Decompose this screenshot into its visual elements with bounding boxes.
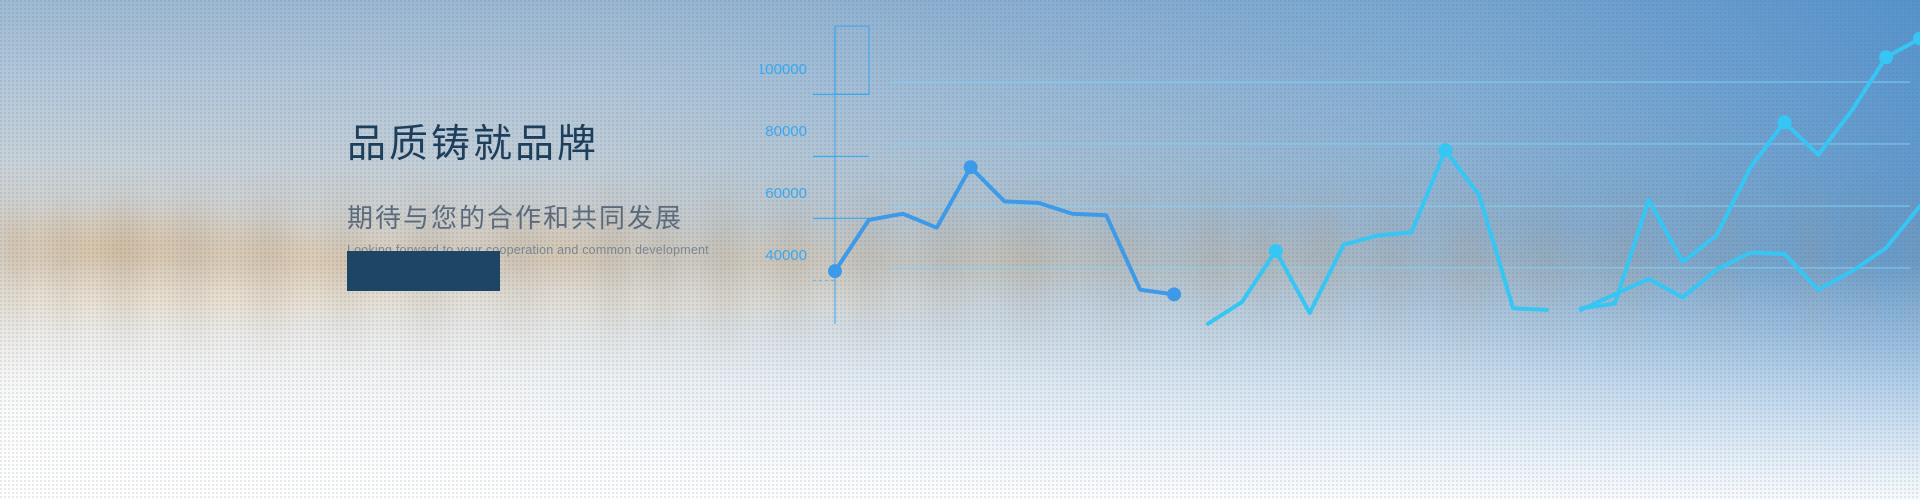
chart-gridlines (890, 82, 1910, 268)
svg-text:60000: 60000 (765, 185, 807, 202)
hero-banner: 品质铸就品牌 期待与您的合作和共同发展 Looking forward to y… (0, 0, 1920, 500)
chart-ytick-labels: 100000800006000040000 (760, 61, 807, 264)
svg-text:80000: 80000 (765, 123, 807, 140)
svg-text:100000: 100000 (760, 61, 807, 78)
chart-axis (813, 26, 869, 324)
learn-more-button[interactable] (347, 251, 500, 291)
chart-series (835, 39, 1920, 324)
chart-markers (828, 32, 1920, 302)
chart-svg: 100000800006000040000 (760, 0, 1920, 500)
svg-text:40000: 40000 (765, 247, 807, 264)
line-chart: 100000800006000040000 (760, 0, 1920, 500)
